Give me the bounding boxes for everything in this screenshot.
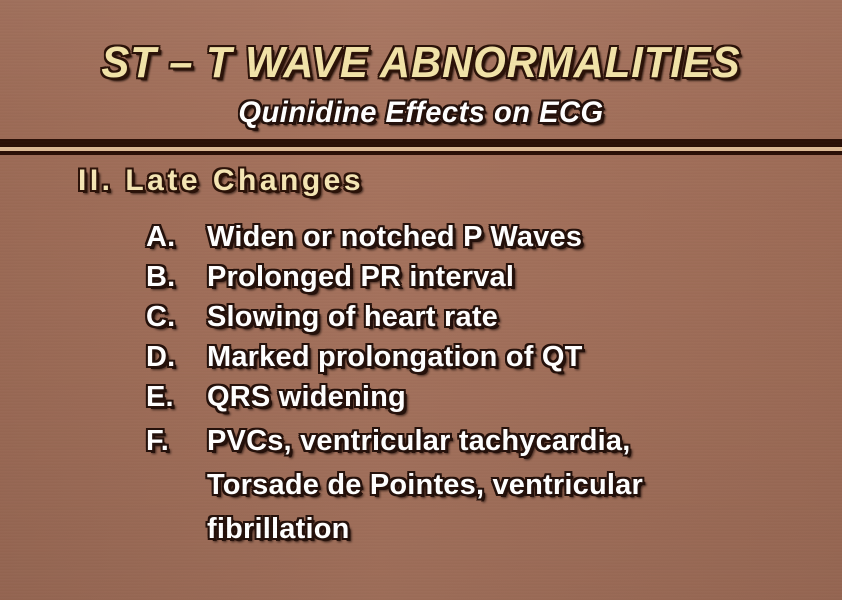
list-item: C. Slowing of heart rate	[0, 297, 842, 337]
list-item-letter: A.	[146, 217, 175, 257]
list-item-text: Prolonged PR interval	[207, 257, 514, 297]
list-item-letter: D.	[146, 337, 175, 377]
list-item: B. Prolonged PR interval	[0, 257, 842, 297]
list-item-letter: B.	[146, 257, 175, 297]
slide-title: ST – T WAVE ABNORMALITIES	[21, 40, 821, 86]
divider-rule-top	[0, 139, 842, 147]
list-item-letter: E.	[146, 377, 174, 417]
list-item-continuation: fibrillation	[0, 509, 842, 553]
list-item-text: PVCs, ventricular tachycardia,	[207, 421, 630, 461]
list-item-letter: C.	[146, 297, 175, 337]
list-item-text: QRS widening	[207, 377, 406, 417]
slide-body: II. Late Changes A. Widen or notched P W…	[0, 155, 842, 600]
list-item-letter: F.	[146, 421, 169, 461]
list-item-continuation-text: Torsade de Pointes, ventricular	[207, 465, 643, 505]
outline-list: A. Widen or notched P Waves B. Prolonged…	[0, 217, 842, 553]
list-item: E. QRS widening	[0, 377, 842, 417]
list-item-text: Widen or notched P Waves	[207, 217, 582, 257]
list-item: F. PVCs, ventricular tachycardia,	[0, 421, 842, 461]
presentation-slide: ST – T WAVE ABNORMALITIES Quinidine Effe…	[0, 0, 842, 600]
list-item: D. Marked prolongation of QT	[0, 337, 842, 377]
list-item-text: Marked prolongation of QT	[207, 337, 583, 377]
list-item-continuation: Torsade de Pointes, ventricular	[0, 465, 842, 509]
list-item: A. Widen or notched P Waves	[0, 217, 842, 257]
list-item-continuation-text: fibrillation	[207, 509, 350, 549]
slide-subtitle: Quinidine Effects on ECG	[13, 97, 830, 129]
section-heading: II. Late Changes	[78, 164, 364, 198]
slide-header: ST – T WAVE ABNORMALITIES Quinidine Effe…	[0, 0, 842, 139]
list-item-text: Slowing of heart rate	[207, 297, 498, 337]
